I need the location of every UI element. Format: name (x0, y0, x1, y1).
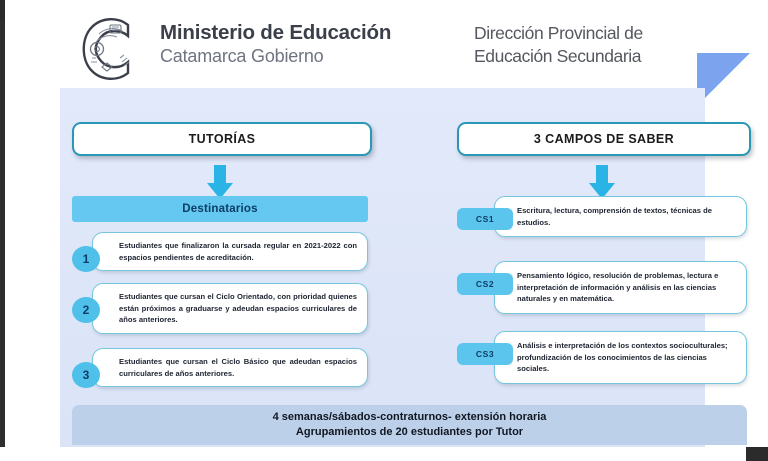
government-name: Catamarca Gobierno (160, 45, 391, 67)
tutorias-title: TUTORÍAS (189, 132, 256, 146)
campo-code-3: CS3 (457, 343, 513, 365)
header-band: Ministerio de Educación Catamarca Gobier… (60, 0, 705, 88)
campo-code-2: CS2 (457, 273, 513, 295)
campo-box-1: Escritura, lectura, comprensión de texto… (494, 196, 747, 237)
footer-line-1: 4 semanas/sábados-contraturnos- extensió… (273, 410, 547, 425)
destinatario-box-3: Estudiantes que cursan el Ciclo Básico q… (92, 348, 368, 387)
destinatario-text-1: Estudiantes que finalizaron la cursada r… (119, 240, 357, 263)
destinatario-number-2: 2 (72, 297, 100, 323)
slide-sheet: Ministerio de Educación Catamarca Gobier… (5, 0, 768, 447)
arrow-down-icon-left (207, 165, 233, 199)
content-panel: TUTORÍAS Destinatarios Estudiantes que f… (60, 88, 705, 447)
destinatario-box-2: Estudiantes que cursan el Ciclo Orientad… (92, 283, 368, 334)
campo-text-2: Pensamiento lógico, resolución de proble… (517, 270, 736, 305)
arrow-down-icon-right (589, 165, 615, 199)
tutorias-header: TUTORÍAS (72, 122, 372, 156)
department-line-2: Educación Secundaria (474, 45, 643, 68)
campos-saber-title: 3 CAMPOS DE SABER (534, 132, 674, 146)
destinatario-text-2: Estudiantes que cursan el Ciclo Orientad… (119, 291, 357, 326)
campo-box-3: Análisis e interpretación de los context… (494, 331, 747, 384)
campo-text-3: Análisis e interpretación de los context… (517, 340, 736, 375)
ministry-name: Ministerio de Educación (160, 20, 391, 45)
campo-text-1: Escritura, lectura, comprensión de texto… (517, 205, 736, 228)
department-line-1: Dirección Provincial de (474, 22, 643, 45)
footer-line-2: Agrupamientos de 20 estudiantes por Tuto… (296, 425, 523, 440)
campo-box-2: Pensamiento lógico, resolución de proble… (494, 261, 747, 314)
destinatario-number-3: 3 (72, 362, 100, 388)
destinatario-box-1: Estudiantes que finalizaron la cursada r… (92, 232, 368, 271)
campo-code-1: CS1 (457, 208, 513, 230)
destinatarios-label: Destinatarios (182, 203, 257, 215)
destinatario-text-3: Estudiantes que cursan el Ciclo Básico q… (119, 356, 357, 379)
department-title: Dirección Provincial de Educación Secund… (474, 22, 643, 68)
footer-banner: 4 semanas/sábados-contraturnos- extensió… (72, 405, 747, 445)
ministry-brand: Ministerio de Educación Catamarca Gobier… (160, 20, 391, 67)
catamarca-c-logo-icon (72, 12, 150, 86)
campos-saber-header: 3 CAMPOS DE SABER (457, 122, 751, 156)
destinatarios-bar: Destinatarios (72, 196, 368, 222)
destinatario-number-1: 1 (72, 246, 100, 272)
